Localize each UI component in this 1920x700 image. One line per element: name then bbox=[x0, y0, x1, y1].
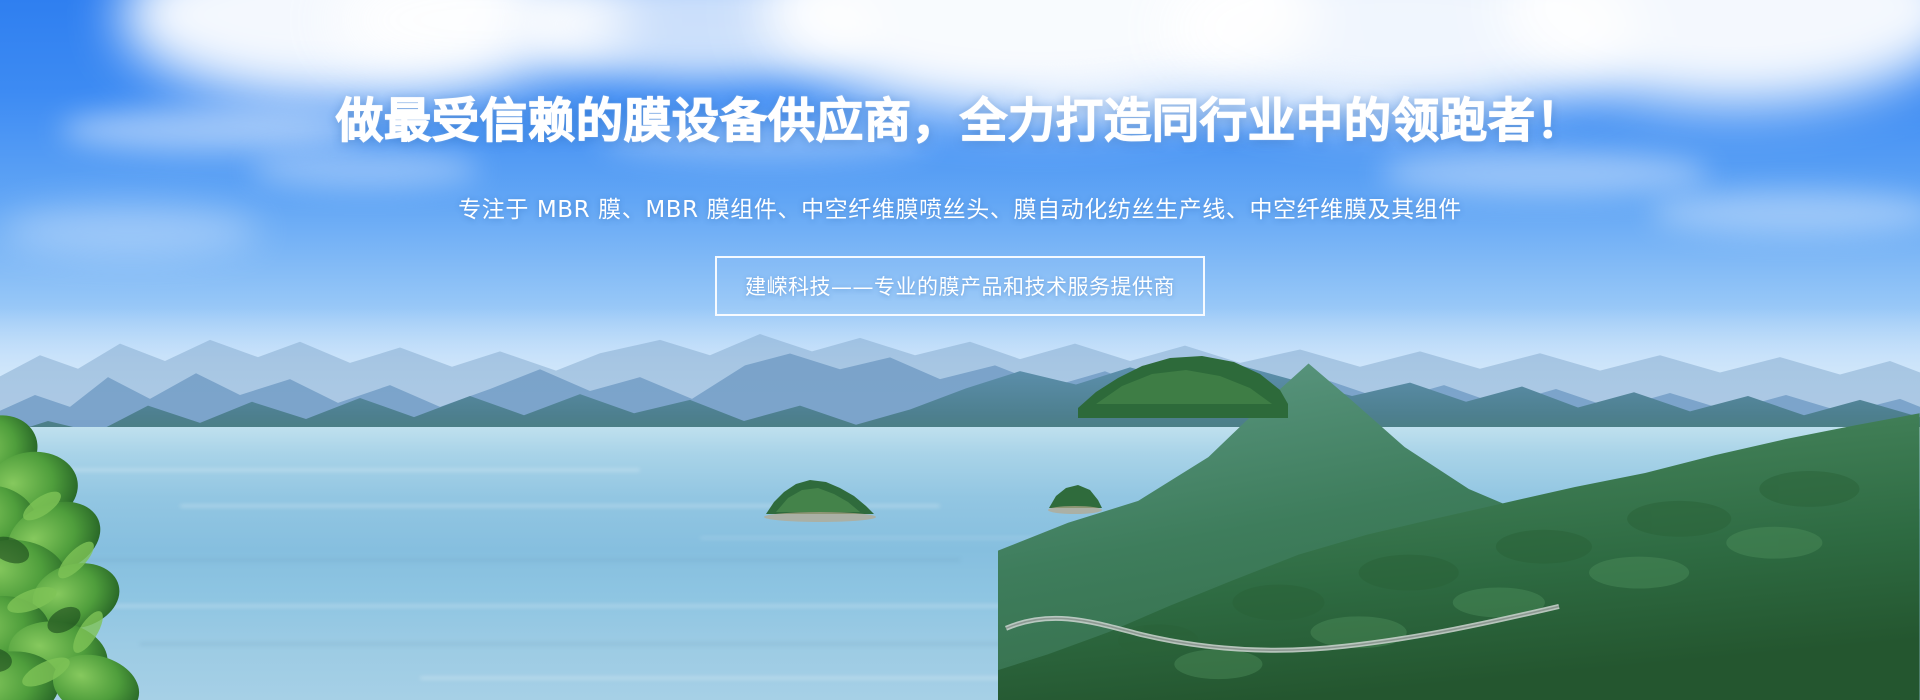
banner-subheadline: 专注于 MBR 膜、MBR 膜组件、中空纤维膜喷丝头、膜自动化纺丝生产线、中空纤… bbox=[458, 190, 1462, 224]
lake-island bbox=[1046, 476, 1104, 514]
lake-island bbox=[1078, 338, 1288, 418]
cloud-shape bbox=[1650, 190, 1920, 234]
cloud-shape bbox=[0, 205, 260, 255]
hero-banner: 做最受信赖的膜设备供应商，全力打造同行业中的领跑者！ 专注于 MBR 膜、MBR… bbox=[0, 0, 1920, 700]
banner-headline: 做最受信赖的膜设备供应商，全力打造同行业中的领跑者！ bbox=[336, 96, 1584, 148]
banner-tagline-box: 建嵘科技——专业的膜产品和技术服务提供商 bbox=[715, 256, 1205, 316]
forested-headland bbox=[998, 252, 1920, 700]
cloud-shape bbox=[250, 150, 480, 188]
cloud-shape bbox=[60, 108, 360, 152]
lake-island bbox=[760, 472, 880, 522]
foreground-foliage bbox=[0, 410, 280, 700]
